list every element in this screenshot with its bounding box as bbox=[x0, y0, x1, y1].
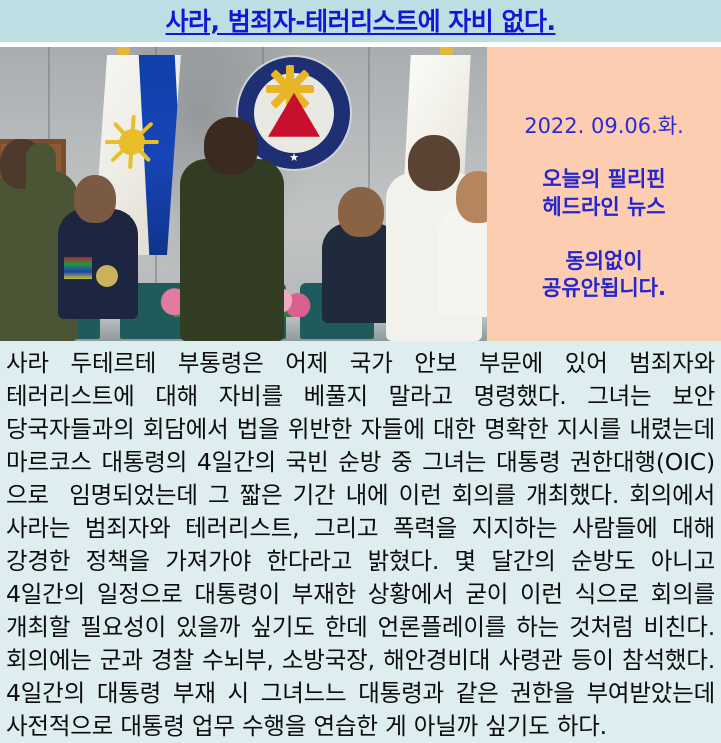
header-bar: 사라, 범죄자-테러리스트에 자비 없다. bbox=[0, 0, 721, 42]
seal-inner-disc bbox=[254, 73, 334, 153]
head bbox=[456, 171, 487, 223]
news-card: 사라, 범죄자-테러리스트에 자비 없다. bbox=[0, 0, 721, 700]
sidebar-headline: 오늘의 필리핀 헤드라인 뉴스 bbox=[542, 166, 665, 221]
head bbox=[338, 187, 384, 237]
head bbox=[74, 175, 116, 223]
page-title: 사라, 범죄자-테러리스트에 자비 없다. bbox=[166, 9, 556, 34]
sharing-notice-line2: 공유안됩니다. bbox=[542, 275, 666, 302]
article-body: 사라 두테르테 부통령은 어제 국가 안보 부문에 있어 범죄자와 테러리스트에… bbox=[0, 341, 721, 743]
news-photo: ★ bbox=[0, 47, 487, 341]
head bbox=[204, 117, 258, 175]
raised-arm bbox=[26, 143, 56, 221]
white-blouse bbox=[438, 207, 487, 317]
seal-triangle bbox=[268, 93, 320, 137]
uniform-insignia bbox=[96, 265, 118, 287]
publication-date: 2022. 09.06.화. bbox=[524, 114, 684, 138]
sharing-notice: 동의없이 공유안됩니다. bbox=[542, 248, 666, 303]
sharing-notice-line1: 동의없이 bbox=[542, 248, 666, 275]
media-row: ★ bbox=[0, 47, 721, 341]
medal-ribbons bbox=[64, 257, 92, 279]
article-paragraph: 사라 두테르테 부통령은 어제 국가 안보 부문에 있어 범죄자와 테러리스트에… bbox=[6, 347, 715, 743]
sidebar-headline-line2: 헤드라인 뉴스 bbox=[542, 194, 665, 222]
info-sidebar: 2022. 09.06.화. 오늘의 필리핀 헤드라인 뉴스 동의없이 공유안됩… bbox=[487, 47, 721, 341]
seal-star-icon: ★ bbox=[289, 152, 299, 163]
head bbox=[408, 135, 460, 191]
sidebar-headline-line1: 오늘의 필리핀 bbox=[542, 166, 665, 194]
uniform-torso bbox=[180, 159, 284, 341]
